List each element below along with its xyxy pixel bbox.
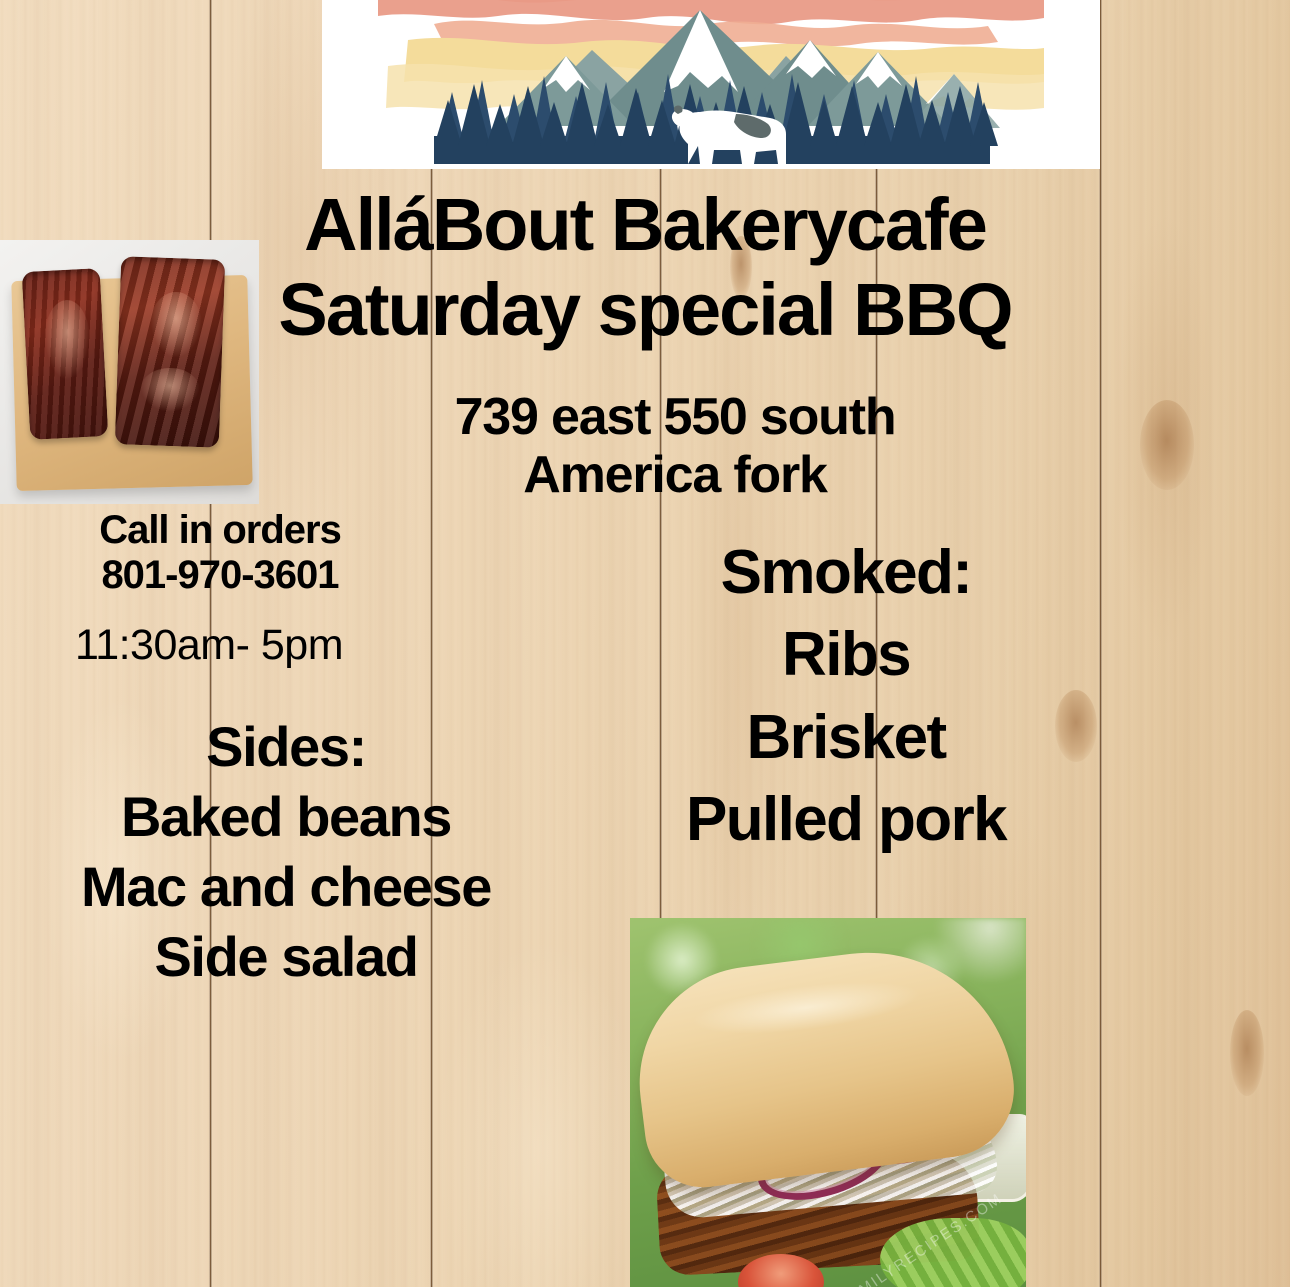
smoked-heading: Smoked:: [596, 532, 1096, 614]
sides-item: Mac and cheese: [0, 852, 572, 922]
call-in-orders-block: Call in orders 801-970-3601: [20, 508, 420, 598]
pulled-pork-sandwich-photo: FAMILYRECIPES.COM: [630, 918, 1026, 1287]
logo-card: [322, 0, 1100, 169]
smoked-item: Pulled pork: [596, 779, 1096, 861]
bun-highlight: [689, 972, 923, 1044]
address-block: 739 east 550 south America fork: [310, 388, 1040, 504]
headline-line-1: AlláBout Bakerycafe: [0, 182, 1290, 267]
meat-sheen: [140, 368, 200, 412]
smoked-item: Ribs: [596, 614, 1096, 696]
sides-heading: Sides:: [0, 712, 572, 782]
sides-item: Side salad: [0, 922, 572, 992]
page-title: AlláBout Bakerycafe Saturday special BBQ: [0, 182, 1290, 352]
address-line-1: 739 east 550 south: [310, 388, 1040, 446]
bbq-special-poster: FAMILYRECIPES.COM AlláBout Bakerycafe Sa…: [0, 0, 1290, 1287]
phone-number[interactable]: 801-970-3601: [20, 553, 420, 598]
call-in-orders-label: Call in orders: [20, 508, 420, 553]
smoked-menu-block: Smoked: Ribs Brisket Pulled pork: [596, 532, 1096, 862]
headline-line-2: Saturday special BBQ: [0, 267, 1290, 352]
sides-item: Baked beans: [0, 782, 572, 852]
mountain-forest-bison-logo: [378, 0, 1044, 164]
sides-menu-block: Sides: Baked beans Mac and cheese Side s…: [0, 712, 572, 992]
logo-illustration-svg: [378, 0, 1044, 164]
hours-of-operation: 11:30am- 5pm: [14, 624, 404, 668]
address-line-2: America fork: [310, 446, 1040, 504]
wood-knot: [1230, 1010, 1264, 1096]
smoked-item: Brisket: [596, 697, 1096, 779]
wood-knot: [1140, 400, 1194, 490]
